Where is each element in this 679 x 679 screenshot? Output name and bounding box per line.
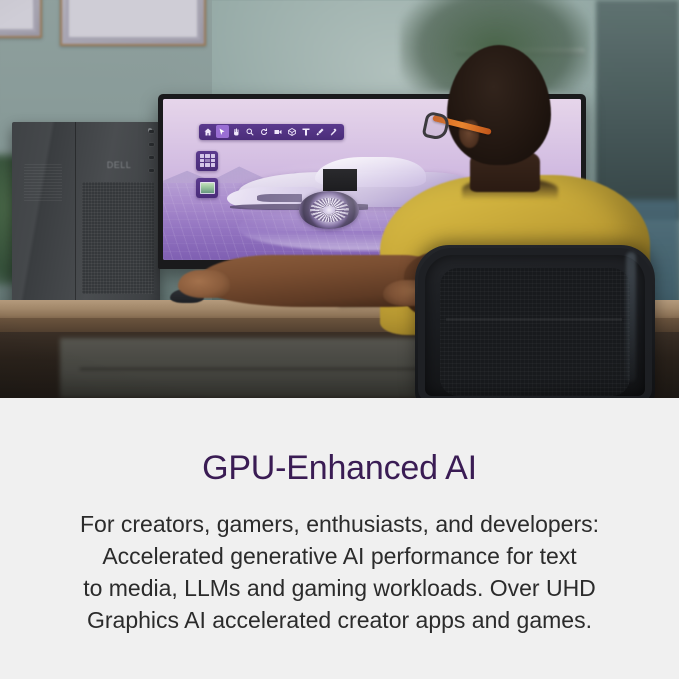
usb-port xyxy=(149,143,154,146)
chair-frame xyxy=(418,248,652,398)
person-left-hand xyxy=(178,270,230,298)
caption-line: Accelerated generative AI performance fo… xyxy=(40,541,640,573)
chair-edge-highlight xyxy=(626,252,636,382)
app-toolbar[interactable] xyxy=(199,124,344,140)
thumbnail-preview-icon xyxy=(200,182,215,194)
picture-mat xyxy=(66,0,200,40)
material-brush-icon[interactable] xyxy=(314,125,327,138)
tower-front-ports xyxy=(149,130,155,222)
picture-mat xyxy=(0,0,36,32)
audio-jack xyxy=(149,169,154,172)
page-title: GPU-Enhanced AI xyxy=(202,450,477,487)
car-side-vent xyxy=(257,194,301,202)
orbit-rotate-icon[interactable] xyxy=(258,125,271,138)
dell-logo: DELL xyxy=(104,160,134,171)
zoom-search-icon[interactable] xyxy=(244,125,257,138)
render-tool-icon[interactable] xyxy=(328,125,341,138)
caption-line: to media, LLMs and gaming workloads. Ove… xyxy=(40,573,640,605)
caption-panel: GPU-Enhanced AI For creators, gamers, en… xyxy=(0,398,679,679)
wall-picture-frame-left xyxy=(0,0,42,38)
wall-picture-frame-right xyxy=(60,0,206,46)
caption-body: For creators, gamers, enthusiasts, and d… xyxy=(40,509,640,636)
usb-port xyxy=(149,130,154,133)
select-cursor-icon[interactable] xyxy=(216,125,229,138)
mesh-grid-icon[interactable] xyxy=(286,125,299,138)
monitor-stand xyxy=(323,169,357,191)
camera-icon[interactable] xyxy=(272,125,285,138)
dell-desktop-tower: DELL xyxy=(12,122,160,307)
text-tool-icon[interactable] xyxy=(300,125,313,138)
wheel-hub xyxy=(323,206,335,214)
viewport-preview-panel[interactable] xyxy=(196,178,218,198)
tower-side-vents xyxy=(24,164,62,202)
hero-photo: DELL xyxy=(0,0,679,398)
pan-hand-icon[interactable] xyxy=(230,125,243,138)
grid-9-dot-icon xyxy=(200,154,215,167)
caption-line: Graphics AI accelerated creator apps and… xyxy=(40,605,640,637)
home-icon[interactable] xyxy=(202,125,215,138)
transform-gizmo-panel[interactable] xyxy=(196,151,218,171)
page-root: DELL xyxy=(0,0,679,679)
tower-front-mesh xyxy=(82,182,154,294)
caption-line: For creators, gamers, enthusiasts, and d… xyxy=(40,509,640,541)
tower-panel-seam xyxy=(75,122,76,307)
usb-port xyxy=(149,156,154,159)
cabinet-seam xyxy=(80,368,460,370)
